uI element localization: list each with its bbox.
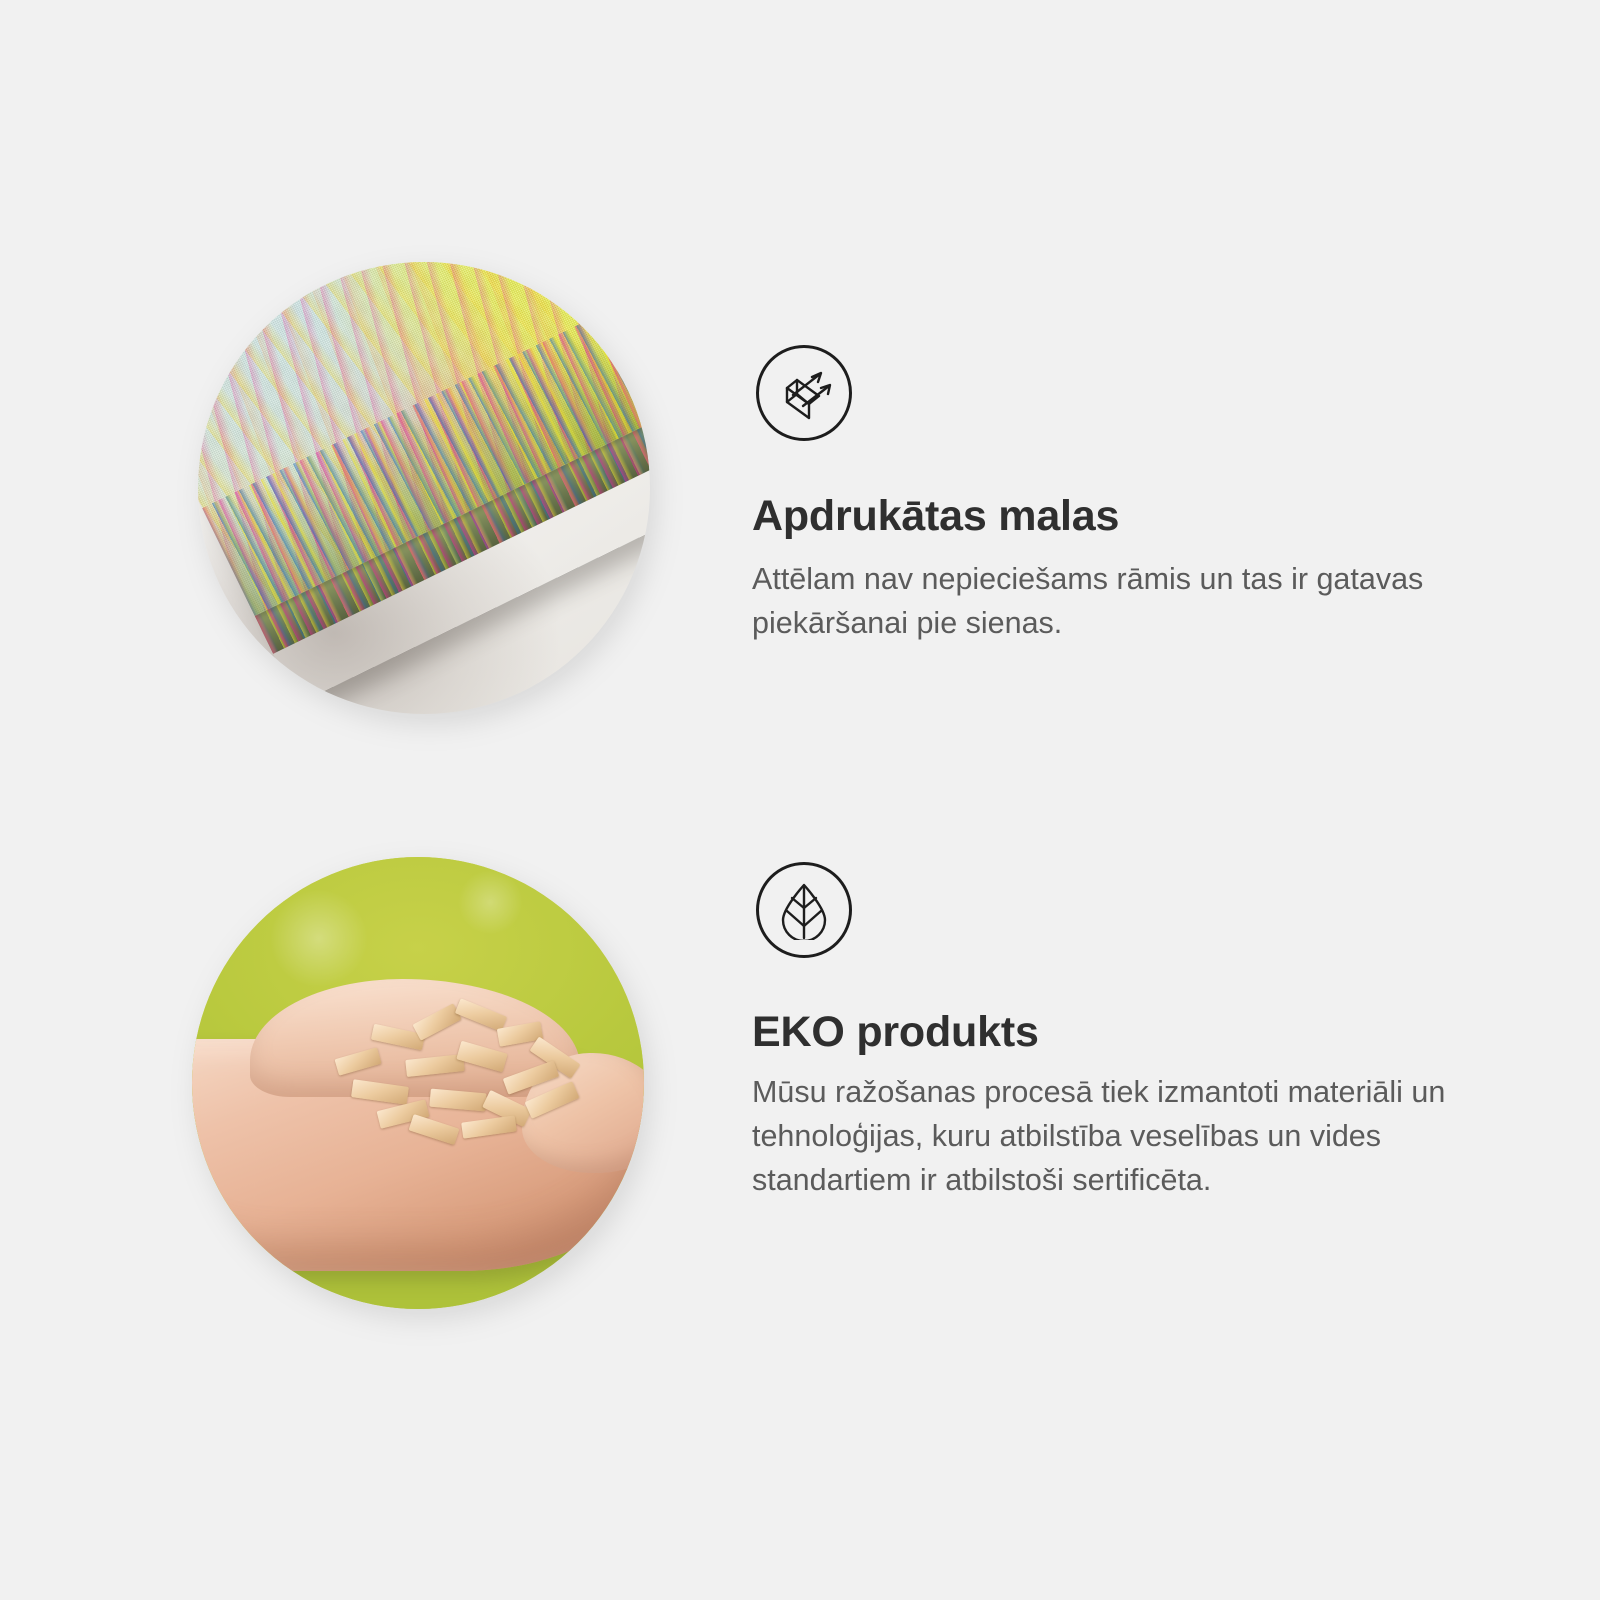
photo-circle-mask xyxy=(198,262,650,714)
photo-circle-mask xyxy=(192,857,644,1309)
feature-1-content: Apdrukātas malas Attēlam nav nepieciešam… xyxy=(752,345,1464,646)
canvas-block xyxy=(198,262,650,704)
wood-chips-pile xyxy=(318,995,596,1147)
leaf-icon xyxy=(756,862,852,958)
feature-2-title: EKO produkts xyxy=(752,1009,1464,1056)
hand-holding-wood-chips-photo xyxy=(192,857,644,1309)
feature-block-printed-edges: Apdrukātas malas Attēlam nav nepieciešam… xyxy=(0,240,1600,740)
feature-1-description: Attēlam nav nepieciešams rāmis un tas ir… xyxy=(752,558,1464,646)
feature-2-description: Mūsu ražošanas procesā tiek izmantoti ma… xyxy=(752,1071,1464,1203)
feature-1-title: Apdrukātas malas xyxy=(752,493,1464,540)
canvas-scene xyxy=(198,262,650,714)
feature-2-content: EKO produkts Mūsu ražošanas procesā tiek… xyxy=(752,862,1464,1203)
canvas-wrapped-edges-icon xyxy=(756,345,852,441)
canvas-print-corner-photo xyxy=(198,262,650,714)
feature-block-eko-product: EKO produkts Mūsu ražošanas procesā tiek… xyxy=(0,835,1600,1335)
green-meadow-background xyxy=(192,857,644,1309)
feature-panel: Apdrukātas malas Attēlam nav nepieciešam… xyxy=(0,0,1600,1600)
canvas-side-edge xyxy=(198,584,222,692)
